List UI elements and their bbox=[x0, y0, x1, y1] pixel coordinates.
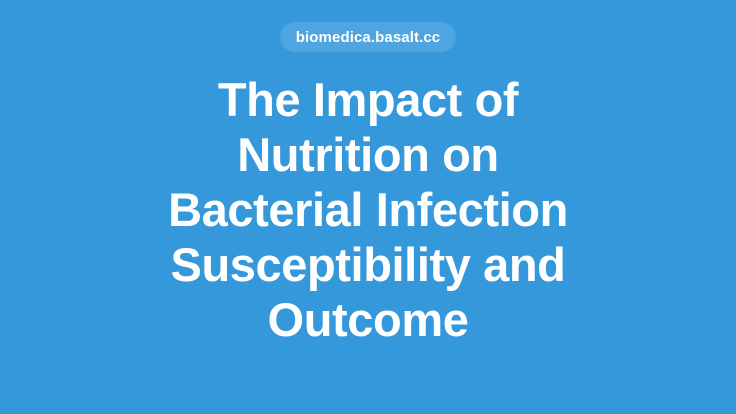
domain-badge: biomedica.basalt.cc bbox=[280, 22, 456, 52]
title-line-5: Outcome bbox=[268, 292, 469, 347]
title-line-1: The Impact of bbox=[218, 72, 518, 127]
title-line-2: Nutrition on bbox=[237, 127, 498, 182]
social-share-card: biomedica.basalt.cc The Impact of Nutrit… bbox=[0, 0, 736, 414]
page-title: The Impact of Nutrition on Bacterial Inf… bbox=[68, 72, 668, 347]
title-line-4: Susceptibility and bbox=[171, 237, 566, 292]
domain-badge-label: biomedica.basalt.cc bbox=[296, 30, 440, 45]
title-line-3: Bacterial Infection bbox=[168, 182, 568, 237]
